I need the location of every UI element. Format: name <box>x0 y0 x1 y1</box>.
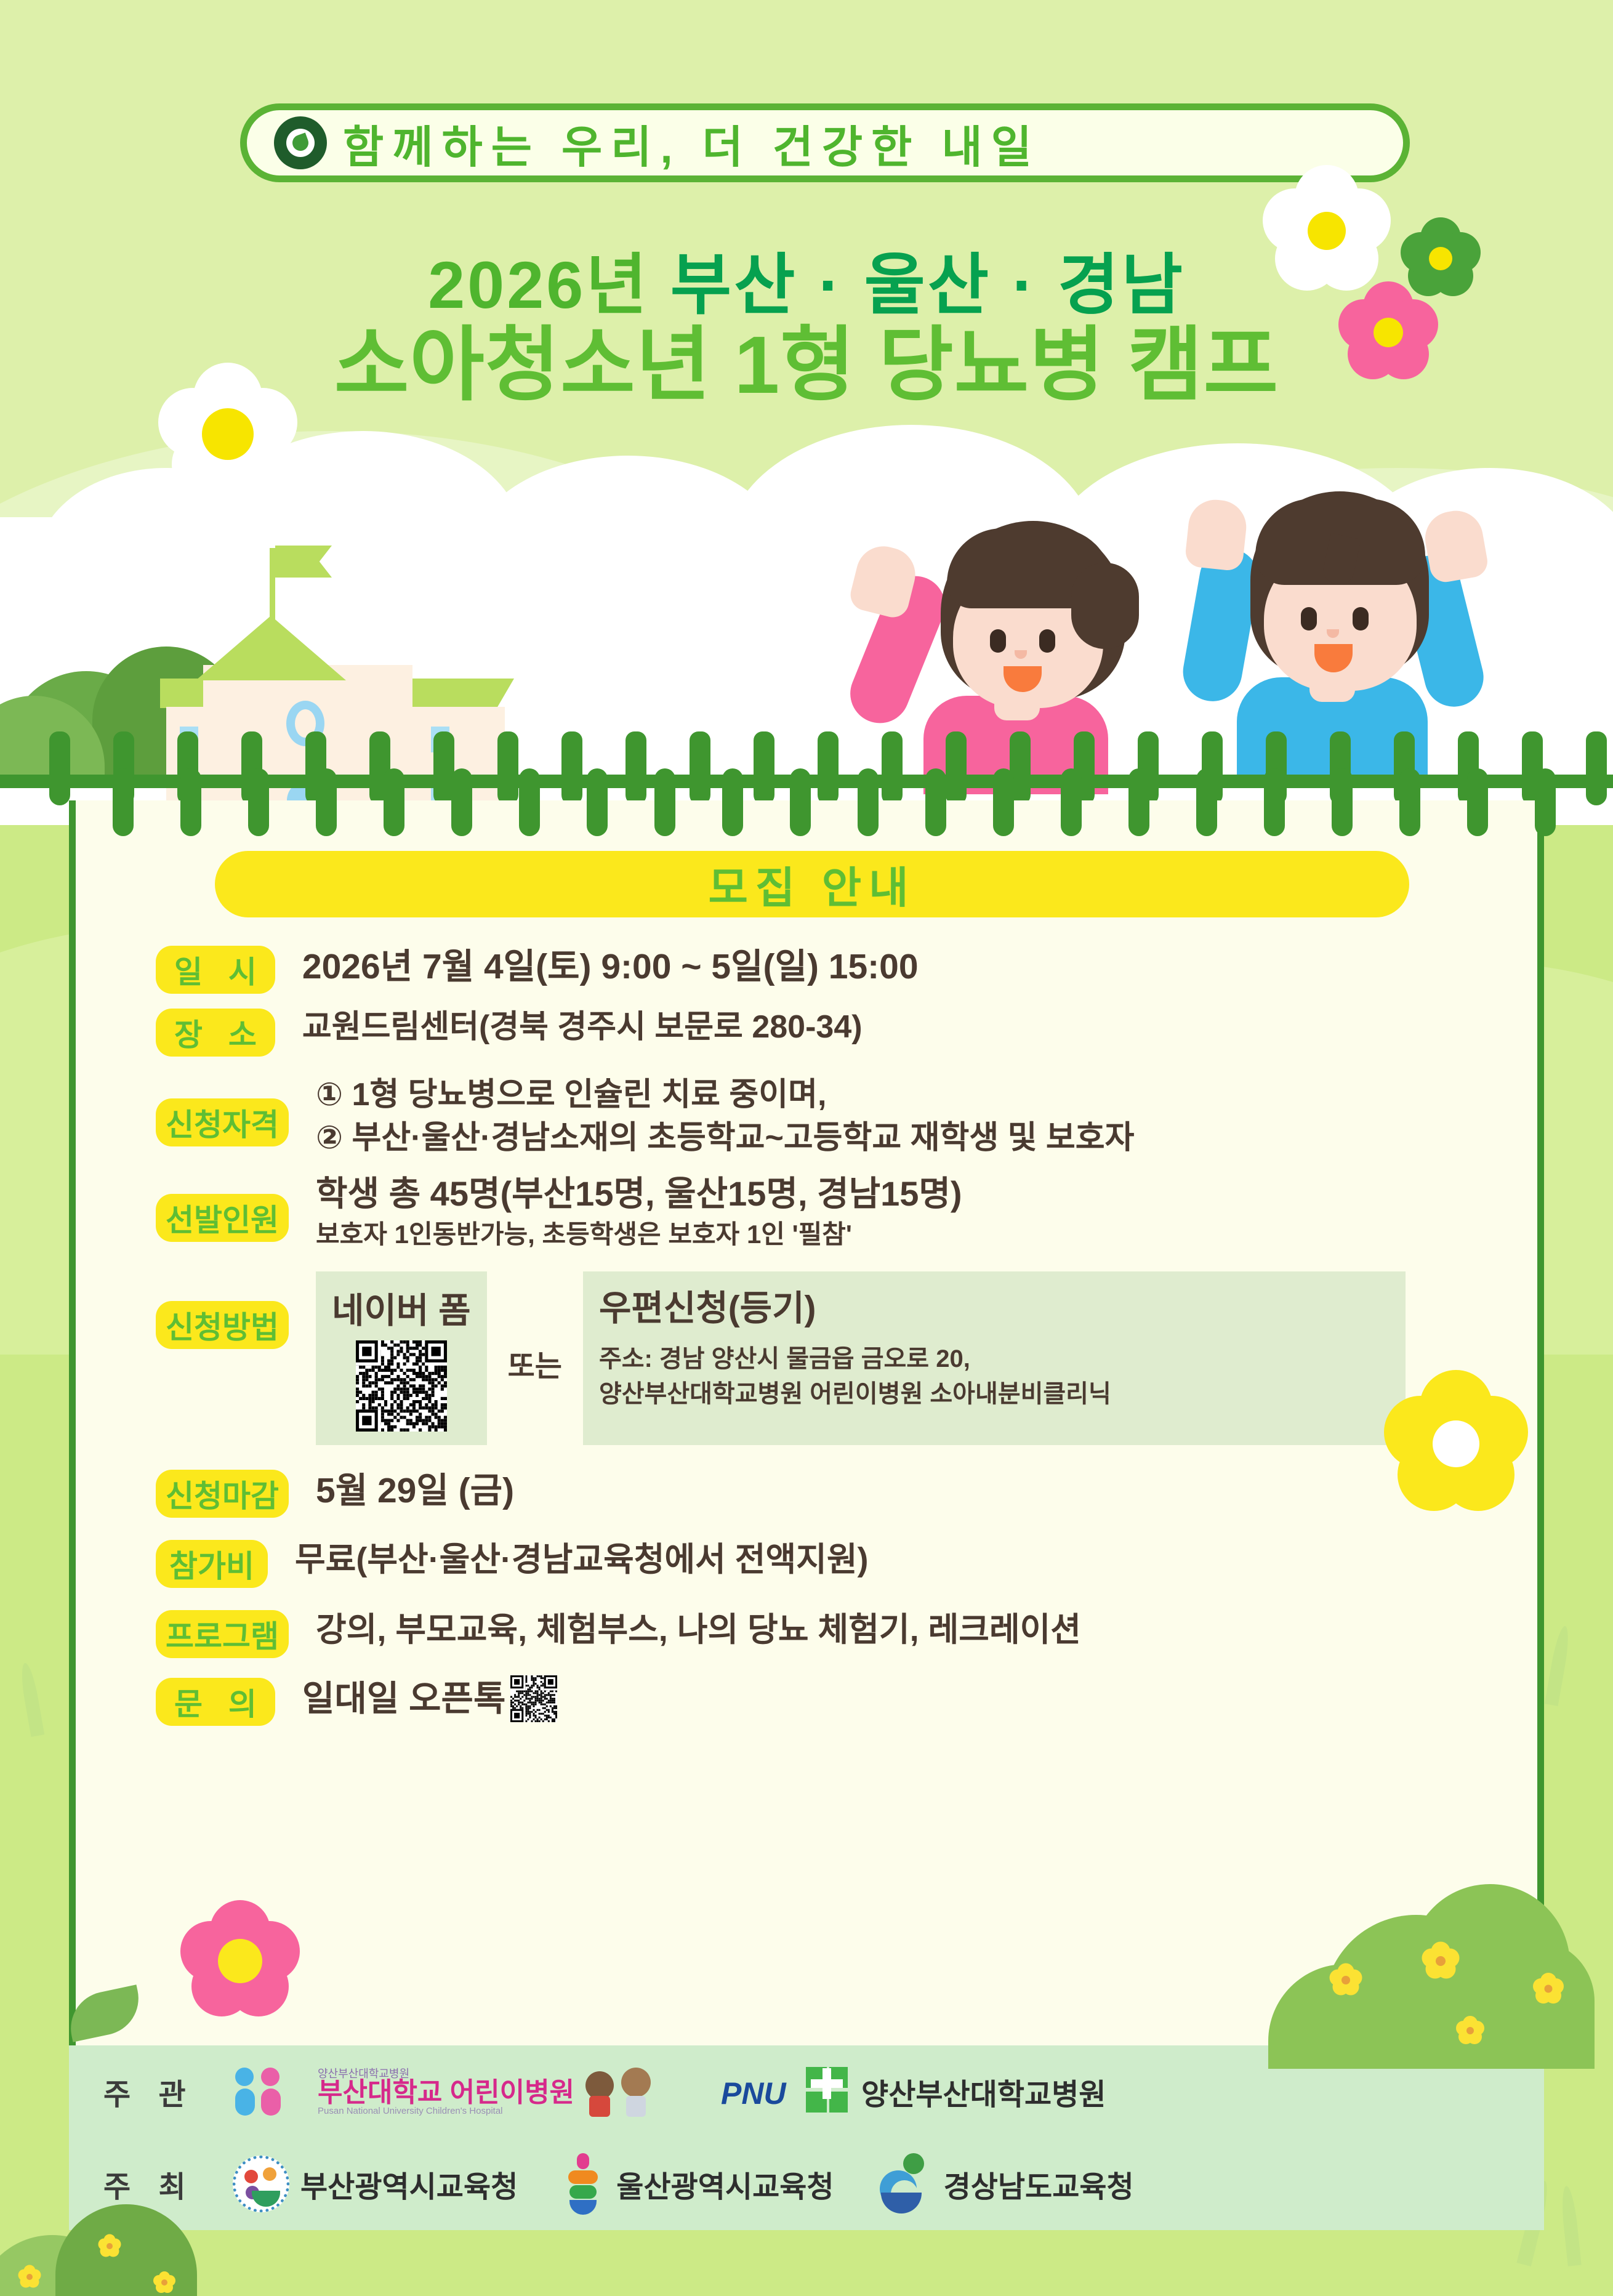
spiral-ring <box>722 768 743 836</box>
card-heading: 모집 안내 <box>215 851 1409 917</box>
circular-emblem-icon <box>274 116 327 169</box>
fence-post <box>754 731 774 805</box>
value-date: 2026년 7월 4일(토) 9:00 ~ 5일(일) 15:00 <box>302 943 919 990</box>
fence-post <box>497 731 518 805</box>
child-girl-illustration <box>887 499 1207 788</box>
spiral-ring <box>993 768 1014 836</box>
host-logo-pnu-yangsan: PNU 양산부산대학교병원 <box>721 2067 1106 2116</box>
white-flower-left <box>157 363 299 505</box>
yellow-dot-flower <box>154 2272 175 2293</box>
spiral-ring <box>451 768 472 836</box>
title-regions: 부산 · 울산 · 경남 <box>670 248 1185 322</box>
pnu-cross-logo: PNU <box>721 2067 850 2116</box>
organizer-name-busan: 부산광역시교육청 <box>300 2162 518 2205</box>
spiral-ring <box>1061 768 1082 836</box>
row-deadline: 신청마감 5월 29일 (금) <box>76 1466 1537 1518</box>
organizer-logo-gyeongnam: 경상남도교육청 <box>877 2153 1134 2215</box>
postal-apply-title: 우편신청(등기) <box>599 1280 1381 1331</box>
pink-flower-contact <box>182 1903 299 2020</box>
apply-method-panels: 네이버 폼 또는 우편신청(등기) 주소: 경남 양산시 물금읍 금오로 20,… <box>316 1271 1406 1445</box>
fence-post <box>882 731 903 805</box>
mascot-icons <box>585 2065 678 2118</box>
spiral-ring <box>316 768 337 836</box>
row-program: 프로그램 강의, 부모교육, 체험부스, 나의 당뇨 체험기, 레크레이션 <box>76 1606 1537 1658</box>
spiral-ring <box>1399 768 1420 836</box>
spiral-ring <box>113 768 134 836</box>
apply-connector: 또는 <box>505 1332 565 1385</box>
yellow-dot-flower <box>1533 1973 1564 2004</box>
value-eligibility-2: ② 부산·울산·경남소재의 초등학교~고등학교 재학생 및 보호자 <box>316 1117 1134 1160</box>
tag-date: 일 시 <box>156 946 275 994</box>
organizer-name-ulsan: 울산광역시교육청 <box>616 2162 834 2205</box>
fence-post <box>1586 731 1607 805</box>
row-date: 일 시 2026년 7월 4일(토) 9:00 ~ 5일(일) 15:00 <box>76 942 1537 994</box>
organizer-logo-ulsan: 울산광역시교육청 <box>561 2153 834 2215</box>
gyeongnam-education-office-logo <box>877 2153 933 2215</box>
slogan-text: 함께하는 우리, 더 건강한 내일 <box>343 111 1040 175</box>
qr-code-icon[interactable] <box>510 1675 557 1722</box>
bush-right-decor <box>1268 1878 1588 2063</box>
poster-root: 함께하는 우리, 더 건강한 내일 2026년 부산 · 울산 · 경남 소아청… <box>0 0 1613 2296</box>
spiral-ring <box>587 768 608 836</box>
host-logo-pnu-childrens: 양산부산대학교병원 부산대학교 어린이병원 Pusan National Uni… <box>233 2065 678 2118</box>
host-label: 주 관 <box>103 2070 233 2113</box>
yellow-flower-card-right <box>1385 1373 1527 1515</box>
spiral-ring <box>858 768 879 836</box>
white-flower-topright <box>1262 166 1391 296</box>
pnu-childrens-hospital-logo <box>233 2065 307 2118</box>
footer-sponsors: 주 관 양산부산대학교병원 부산대학교 어린이병원 Pusan National… <box>69 2045 1544 2230</box>
bush-bottom-left <box>0 2192 246 2296</box>
row-fee: 참가비 무료(부산·울산·경남교육청에서 전액지원) <box>76 1536 1537 1588</box>
organizer-name-gyeongnam: 경상남도교육청 <box>944 2162 1134 2205</box>
tag-apply-method: 신청방법 <box>156 1301 289 1349</box>
row-apply-method: 신청방법 네이버 폼 또는 우편신청(등기) 주소: 경남 양산시 물금읍 금오… <box>76 1271 1537 1445</box>
host-name-yangsan: 양산부산대학교병원 <box>861 2070 1106 2113</box>
yellow-dot-flower <box>1456 2016 1484 2045</box>
organizer-logo-busan: 부산광역시교육청 <box>233 2156 518 2212</box>
yellow-dot-flower <box>18 2266 41 2288</box>
naver-form-label: 네이버 폼 <box>332 1283 471 1333</box>
value-venue: 교원드림센터(경북 경주시 보문로 280-34) <box>302 1006 863 1049</box>
value-program: 강의, 부모교육, 체험부스, 나의 당뇨 체험기, 레크레이션 <box>316 1608 1081 1652</box>
tag-eligibility: 신청자격 <box>156 1098 289 1146</box>
spiral-ring <box>1535 768 1556 836</box>
yellow-dot-flower <box>99 2235 121 2257</box>
tag-program: 프로그램 <box>156 1610 289 1658</box>
value-quota-2: 보호자 1인동반가능, 초등학생은 보호자 1인 '필참' <box>316 1217 962 1253</box>
ulsan-education-office-logo <box>561 2153 605 2215</box>
postal-address-2: 양산부산대학교병원 어린이병원 소아내분비클리닉 <box>599 1377 1381 1412</box>
row-venue: 장 소 교원드림센터(경북 경주시 보문로 280-34) <box>76 1005 1537 1057</box>
host-name-childrens: 부산대학교 어린이병원 <box>318 2079 574 2106</box>
tag-contact: 문 의 <box>156 1678 275 1726</box>
tag-deadline: 신청마감 <box>156 1470 289 1518</box>
postal-address-1: 주소: 경남 양산시 물금읍 금오로 20, <box>599 1342 1381 1377</box>
info-rows: 일 시 2026년 7월 4일(토) 9:00 ~ 5일(일) 15:00 장 … <box>76 942 1537 1734</box>
row-eligibility: 신청자격 ① 1형 당뇨병으로 인슐린 치료 중이며, ② 부산·울산·경남소재… <box>76 1073 1537 1159</box>
naver-form-panel[interactable]: 네이버 폼 <box>316 1271 487 1445</box>
fence-post <box>561 731 582 805</box>
tag-quota: 선발인원 <box>156 1194 289 1242</box>
fence-post <box>946 731 967 805</box>
value-contact: 일대일 오픈톡 <box>302 1675 505 1722</box>
row-contact: 문 의 일대일 오픈톡 <box>76 1674 1537 1726</box>
spiral-ring <box>1332 768 1353 836</box>
row-quota: 선발인원 학생 총 45명(부산15명, 울산15명, 경남15명) 보호자 1… <box>76 1169 1537 1253</box>
spiral-ring <box>248 768 269 836</box>
spiral-ring <box>1128 768 1149 836</box>
fence-post <box>625 731 646 805</box>
spiral-ring <box>654 768 675 836</box>
yellow-dot-flower <box>1422 1943 1459 1980</box>
fence-post <box>818 731 839 805</box>
fence-post <box>690 731 710 805</box>
spiral-ring <box>384 768 404 836</box>
card-heading-text: 모집 안내 <box>708 853 915 916</box>
value-quota-1: 학생 총 45명(부산15명, 울산15명, 경남15명) <box>316 1170 962 1217</box>
value-fee: 무료(부산·울산·경남교육청에서 전액지원) <box>295 1537 869 1582</box>
spiral-ring <box>180 768 201 836</box>
footer-row-organizers: 주 최 부산광역시교육청 울산광역시교육청 <box>69 2138 1544 2230</box>
spiral-ring <box>1196 768 1217 836</box>
value-deadline: 5월 29일 (금) <box>316 1467 514 1514</box>
spiral-ring <box>1264 768 1285 836</box>
tag-venue: 장 소 <box>156 1009 275 1057</box>
postal-apply-panel: 우편신청(등기) 주소: 경남 양산시 물금읍 금오로 20, 양산부산대학교병… <box>583 1271 1406 1445</box>
spiral-ring <box>925 768 946 836</box>
qr-code-icon[interactable] <box>356 1340 447 1432</box>
spiral-ring <box>1467 768 1488 836</box>
info-card: 모집 안내 일 시 2026년 7월 4일(토) 9:00 ~ 5일(일) 15… <box>69 800 1544 2045</box>
value-eligibility-1: ① 1형 당뇨병으로 인슐린 치료 중이며, <box>316 1074 1134 1117</box>
yellow-dot-flower <box>1330 1964 1362 1996</box>
spiral-ring <box>519 768 540 836</box>
title-year: 2026년 <box>428 248 650 322</box>
slogan-banner: 함께하는 우리, 더 건강한 내일 <box>240 103 1410 182</box>
spiral-ring <box>790 768 811 836</box>
fence-post <box>49 731 70 805</box>
pink-flower-topright <box>1339 283 1438 382</box>
tag-fee: 참가비 <box>156 1540 268 1588</box>
